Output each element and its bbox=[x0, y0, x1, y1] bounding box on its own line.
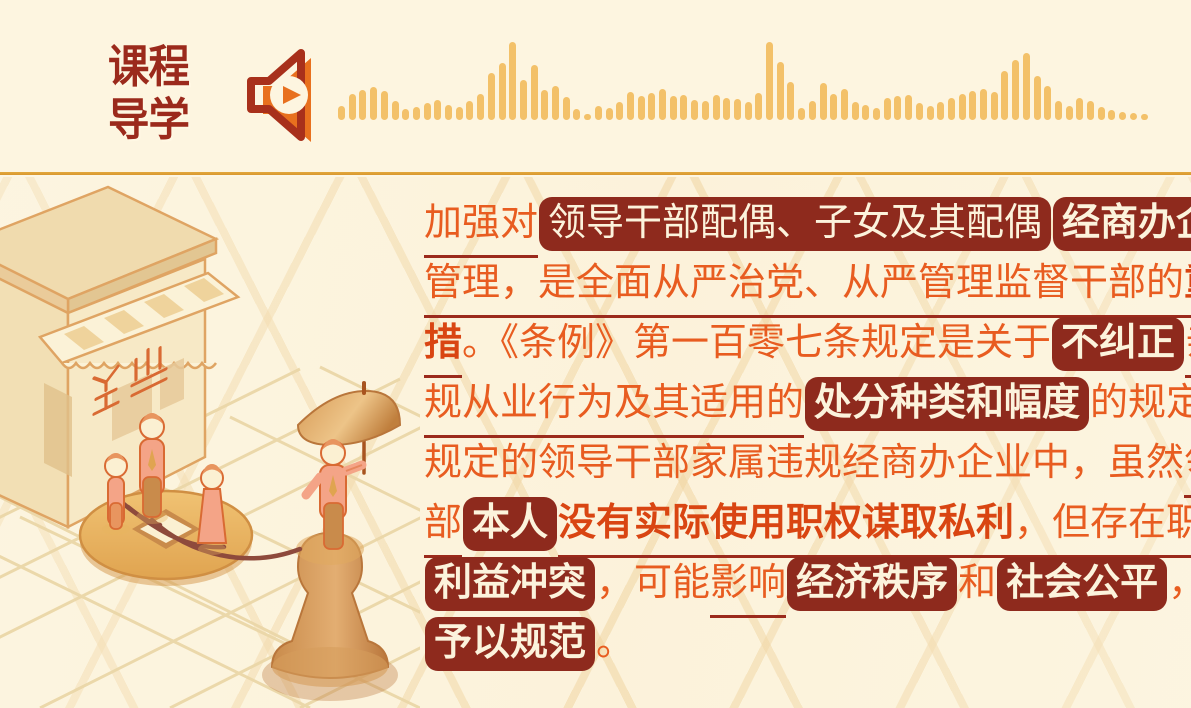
line-8: 予以规范。 bbox=[424, 613, 1168, 673]
text-segment: 重要举 bbox=[1184, 253, 1191, 318]
waveform-bar bbox=[1108, 110, 1115, 120]
waveform-bar bbox=[948, 98, 955, 120]
waveform-bar bbox=[445, 105, 452, 120]
line-6: 部本人没有实际使用职权谋取私利，但存在职务上的 bbox=[424, 493, 1168, 553]
text-segment: ，应当 bbox=[1168, 553, 1191, 613]
text-segment: 亲属违 bbox=[1185, 313, 1191, 378]
logo-line-2: 导学 bbox=[108, 93, 209, 146]
header-bar: 课程 导学 bbox=[0, 0, 1191, 175]
text-segment: 和 bbox=[958, 553, 996, 613]
waveform-bar bbox=[424, 103, 431, 120]
waveform-bar bbox=[830, 94, 837, 120]
waveform-bar bbox=[1001, 71, 1008, 120]
audio-waveform bbox=[338, 18, 1153, 120]
waveform-bar bbox=[1044, 86, 1051, 120]
waveform-bar bbox=[531, 65, 538, 120]
waveform-bar bbox=[648, 93, 655, 120]
waveform-bar bbox=[573, 109, 580, 120]
waveform-bar bbox=[1141, 114, 1148, 120]
waveform-bar bbox=[702, 101, 709, 120]
highlighted-phrase: 社会公平 bbox=[997, 557, 1167, 611]
isometric-enterprise-illustration bbox=[0, 177, 420, 708]
line-4: 规从业行为及其适用的处分种类和幅度的规定。本条 bbox=[424, 373, 1168, 433]
waveform-bar bbox=[552, 86, 559, 120]
waveform-bar bbox=[338, 106, 345, 120]
waveform-bar bbox=[755, 93, 762, 120]
body-paragraph: 加强对领导干部配偶、子女及其配偶经商办企业管理，是全面从严治党、从严管理监督干部… bbox=[424, 193, 1168, 693]
line-7: 利益冲突，可能影响经济秩序和社会公平，应当 bbox=[424, 553, 1168, 613]
waveform-bar bbox=[392, 101, 399, 120]
waveform-bar bbox=[713, 95, 720, 120]
waveform-bar bbox=[370, 87, 377, 120]
waveform-bar bbox=[659, 89, 666, 120]
waveform-bar bbox=[563, 97, 570, 120]
line-5: 规定的领导干部家属违规经商办企业中，虽然领导干 bbox=[424, 433, 1168, 493]
waveform-bar bbox=[413, 107, 420, 120]
waveform-bar bbox=[980, 89, 987, 120]
waveform-bar bbox=[638, 96, 645, 120]
text-segment: ，可能 bbox=[596, 553, 710, 613]
highlighted-phrase: 利益冲突 bbox=[425, 557, 595, 611]
waveform-bar bbox=[841, 89, 848, 120]
waveform-bar bbox=[798, 108, 805, 120]
highlighted-phrase: 予以规范 bbox=[425, 617, 595, 671]
waveform-bar bbox=[1119, 112, 1126, 120]
text-segment: 管理，是全面从严治党、从严管理监督干部的 bbox=[424, 253, 1184, 318]
waveform-bar bbox=[852, 102, 859, 120]
waveform-bar bbox=[991, 92, 998, 120]
content-area: 加强对领导干部配偶、子女及其配偶经商办企业管理，是全面从严治党、从严管理监督干部… bbox=[0, 177, 1191, 708]
highlighted-phrase: 不纠正 bbox=[1052, 317, 1184, 371]
waveform-bar bbox=[499, 63, 506, 120]
waveform-bar bbox=[616, 102, 623, 120]
line-2: 管理，是全面从严治党、从严管理监督干部的重要举 bbox=[424, 253, 1168, 313]
waveform-bar bbox=[584, 114, 591, 120]
waveform-bar bbox=[723, 98, 730, 120]
waveform-bar bbox=[884, 98, 891, 120]
waveform-bar bbox=[820, 83, 827, 120]
waveform-bar bbox=[1087, 101, 1094, 120]
waveform-bar bbox=[606, 108, 613, 120]
text-segment: 措 bbox=[424, 313, 462, 378]
speaker-play-icon[interactable] bbox=[233, 45, 328, 145]
waveform-bar bbox=[1034, 76, 1041, 120]
waveform-bar bbox=[905, 95, 912, 120]
waveform-bar bbox=[969, 91, 976, 120]
waveform-bar bbox=[381, 91, 388, 120]
waveform-bar bbox=[809, 101, 816, 120]
waveform-bar bbox=[1023, 53, 1030, 120]
line-3: 措。《条例》第一百零七条规定是关于不纠正亲属违 bbox=[424, 313, 1168, 373]
waveform-bar bbox=[862, 105, 869, 120]
text-segment: 的规定。本条 bbox=[1090, 373, 1191, 433]
text-segment: 规定的领导干部家属违规经商办企业中，虽然 bbox=[424, 433, 1184, 493]
waveform-bar bbox=[1012, 60, 1019, 120]
text-segment: 没有实际使用职权谋取私利 bbox=[558, 493, 1014, 558]
waveform-bar bbox=[627, 92, 634, 120]
waveform-bar bbox=[456, 107, 463, 120]
waveform-bar bbox=[1130, 113, 1137, 120]
waveform-bar bbox=[894, 96, 901, 120]
waveform-bar bbox=[734, 99, 741, 120]
waveform-bar bbox=[873, 108, 880, 120]
waveform-bar bbox=[1098, 107, 1105, 120]
waveform-bar bbox=[359, 90, 366, 120]
waveform-bar bbox=[745, 102, 752, 120]
waveform-bar bbox=[680, 95, 687, 120]
text-segment: ，但存在职务上的 bbox=[1014, 493, 1191, 558]
waveform-bar bbox=[1076, 98, 1083, 120]
text-segment: 部 bbox=[424, 493, 462, 558]
waveform-bar bbox=[937, 102, 944, 120]
waveform-bar bbox=[402, 109, 409, 120]
text-segment: 规从业行为及其适用的 bbox=[424, 373, 804, 438]
waveform-bar bbox=[1066, 106, 1073, 120]
highlighted-phrase: 经商办企业 bbox=[1053, 197, 1191, 251]
waveform-bar bbox=[670, 96, 677, 120]
waveform-bar bbox=[595, 106, 602, 120]
logo-line-1: 课程 bbox=[108, 40, 209, 93]
waveform-bar bbox=[477, 94, 484, 120]
waveform-bar bbox=[509, 42, 516, 120]
waveform-bar bbox=[541, 90, 548, 120]
waveform-bar bbox=[434, 100, 441, 120]
waveform-bar bbox=[787, 82, 794, 120]
highlighted-phrase: 经济秩序 bbox=[787, 557, 957, 611]
waveform-bar bbox=[1055, 101, 1062, 120]
course-guide-logo: 课程 导学 bbox=[108, 40, 218, 148]
waveform-bar bbox=[520, 80, 527, 120]
waveform-bar bbox=[916, 103, 923, 120]
text-segment: 影响 bbox=[710, 553, 786, 618]
waveform-bar bbox=[927, 106, 934, 120]
waveform-bar bbox=[959, 94, 966, 120]
highlighted-phrase: 本人 bbox=[463, 497, 557, 551]
text-segment: 。 bbox=[596, 613, 634, 673]
waveform-bar bbox=[766, 42, 773, 120]
text-segment: 加强对 bbox=[424, 193, 538, 258]
highlighted-phrase: 处分种类和幅度 bbox=[805, 377, 1089, 431]
waveform-bar bbox=[488, 73, 495, 120]
slide-root: 课程 导学 bbox=[0, 0, 1191, 708]
waveform-bar bbox=[466, 101, 473, 120]
header-divider bbox=[0, 172, 1191, 175]
waveform-bar bbox=[349, 94, 356, 120]
highlighted-phrase: 领导干部配偶、子女及其配偶 bbox=[539, 197, 1051, 251]
line-1: 加强对领导干部配偶、子女及其配偶经商办企业 bbox=[424, 193, 1168, 253]
text-segment: 领导干 bbox=[1184, 433, 1191, 498]
waveform-bar bbox=[777, 62, 784, 120]
waveform-bar bbox=[691, 100, 698, 120]
text-segment: 。《条例》第一百零七条规定是关于 bbox=[462, 313, 1051, 373]
